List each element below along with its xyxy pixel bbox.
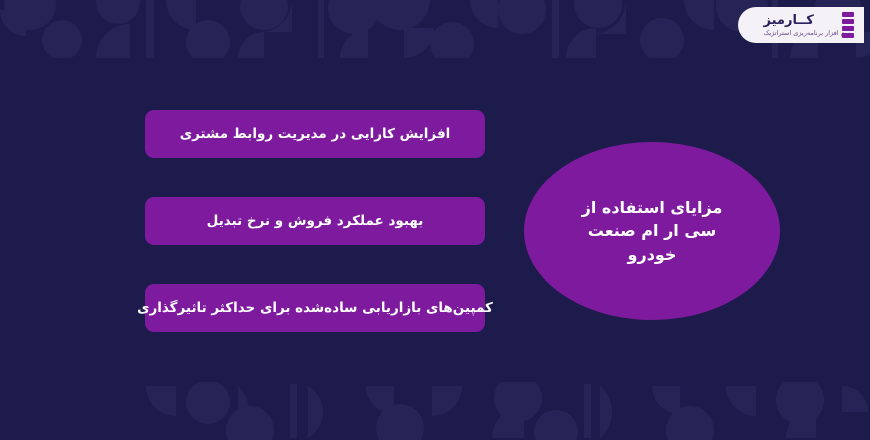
benefit-label-1: افزایش کارایی در مدیریت روابط مشتری	[180, 126, 451, 143]
benefit-box-3[interactable]: کمپین‌های بازاریابی ساده‌شده برای حداکثر…	[145, 284, 485, 332]
center-ellipse[interactable]: مزایای استفاده از سی ار ام صنعت خودرو	[524, 142, 780, 320]
center-title-line-2: سی ار ام صنعت	[588, 221, 717, 240]
benefits-column: افزایش کارایی در مدیریت روابط مشتری بهبو…	[145, 110, 485, 332]
center-title-line-3: خودرو	[628, 245, 677, 264]
center-title-line-1: مزایای استفاده از	[582, 198, 723, 217]
benefit-box-1[interactable]: افزایش کارایی در مدیریت روابط مشتری	[145, 110, 485, 158]
karmiz-c-mark-icon	[812, 10, 858, 40]
benefit-label-2: بهبود عملکرد فروش و نرخ تبدیل	[207, 213, 424, 230]
logo-title: کــارمیز	[764, 14, 814, 27]
slide-canvas: افزایش کارایی در مدیریت روابط مشتری بهبو…	[0, 0, 870, 440]
center-ellipse-title: مزایای استفاده از سی ار ام صنعت خودرو	[560, 196, 745, 266]
geometric-pattern-bottom	[0, 382, 870, 440]
benefit-box-2[interactable]: بهبود عملکرد فروش و نرخ تبدیل	[145, 197, 485, 245]
benefit-label-3: کمپین‌های بازاریابی ساده‌شده برای حداکثر…	[137, 300, 493, 317]
brand-logo[interactable]: کــارمیز نرم افزار برنامه‌ریزی استراتژیک	[738, 7, 864, 43]
